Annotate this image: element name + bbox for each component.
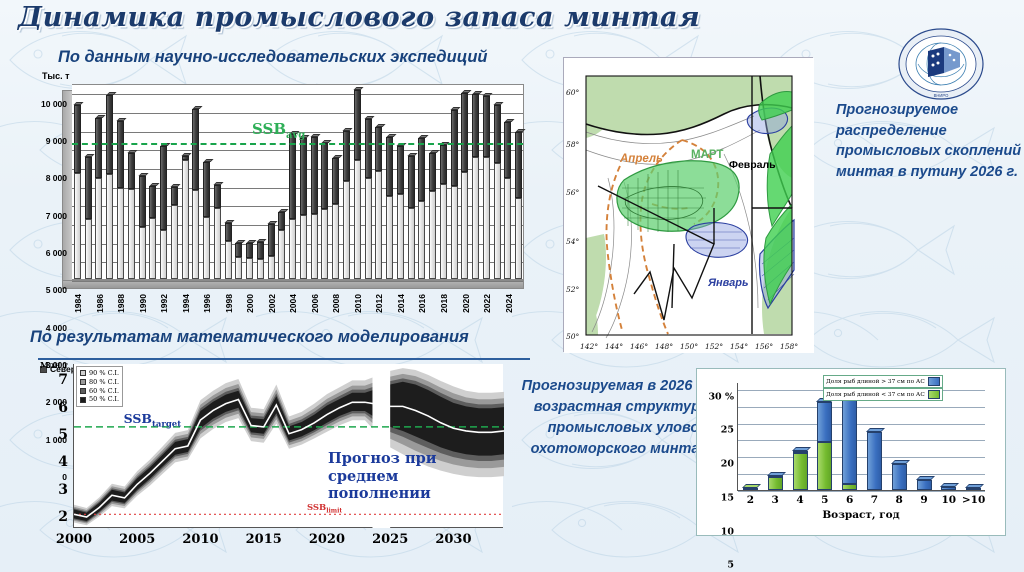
survey-bar-lower-segment bbox=[343, 181, 350, 279]
survey-bar-upper-segment bbox=[461, 93, 468, 171]
survey-x-tick: 2008 bbox=[331, 294, 341, 313]
slide-root: Динамика промыслового запаса минтая По д… bbox=[0, 0, 1024, 572]
survey-bar bbox=[375, 83, 382, 279]
survey-x-tick: 2012 bbox=[374, 294, 384, 313]
survey-bar bbox=[418, 83, 425, 279]
svg-text:148°: 148° bbox=[655, 342, 673, 351]
age-legend-item: Доля рыб длиной > 37 см по АС bbox=[823, 375, 943, 388]
survey-bar bbox=[278, 83, 285, 279]
survey-x-tick: 2000 bbox=[245, 294, 255, 313]
survey-bar-upper-segment bbox=[332, 158, 339, 205]
survey-bar-cap bbox=[365, 116, 375, 119]
model-y-axis-label: Млн т bbox=[40, 360, 68, 370]
survey-bar-lower-segment bbox=[386, 196, 393, 279]
age-bar-green-segment bbox=[743, 488, 758, 490]
survey-bar-lower-segment bbox=[311, 214, 318, 279]
survey-bar bbox=[494, 83, 501, 279]
model-x-tick: 2005 bbox=[119, 532, 155, 547]
survey-bar-upper-segment bbox=[472, 94, 479, 157]
survey-bar-upper-segment bbox=[321, 143, 328, 209]
survey-x-tick: 2014 bbox=[396, 294, 406, 313]
survey-y-tick: 4 000 bbox=[46, 323, 67, 333]
survey-bar-cap bbox=[515, 129, 525, 132]
vniro-logo: ВНИРО bbox=[898, 27, 984, 101]
survey-bar bbox=[74, 83, 81, 279]
survey-bar-upper-segment bbox=[225, 223, 232, 241]
map-label-february: Февраль bbox=[729, 159, 776, 171]
survey-bar-upper-segment bbox=[268, 224, 275, 256]
survey-bars bbox=[72, 85, 523, 279]
survey-bar-cap bbox=[214, 182, 224, 185]
survey-bar bbox=[515, 83, 522, 279]
survey-bar bbox=[235, 83, 242, 279]
model-legend-label: 50 % C.I. bbox=[89, 395, 119, 404]
age-x-tick: 4 bbox=[796, 494, 803, 506]
page-title: Динамика промыслового запаса минтая bbox=[18, 2, 700, 33]
age-bar-green-segment bbox=[768, 477, 783, 491]
survey-bar bbox=[504, 83, 511, 279]
svg-text:60°: 60° bbox=[566, 88, 580, 97]
survey-bar-cap bbox=[117, 118, 127, 121]
survey-bar-upper-segment bbox=[257, 242, 264, 260]
survey-bar-upper-segment bbox=[246, 243, 253, 259]
model-ssb-target-label: SSBtarget bbox=[124, 411, 182, 430]
survey-bar-cap bbox=[386, 134, 396, 137]
survey-x-tick: 1986 bbox=[95, 294, 105, 313]
survey-bar-upper-segment bbox=[235, 243, 242, 257]
age-bar-top bbox=[916, 476, 935, 480]
survey-bar-lower-segment bbox=[483, 157, 490, 279]
age-bar-top bbox=[866, 428, 885, 432]
survey-bar-lower-segment bbox=[74, 173, 81, 279]
survey-bar-lower-segment bbox=[246, 258, 253, 279]
survey-bar-lower-segment bbox=[182, 160, 189, 279]
model-y-tick: 6 bbox=[58, 400, 68, 416]
survey-bar-lower-segment bbox=[461, 172, 468, 279]
age-bar-top bbox=[940, 483, 959, 487]
survey-y-axis-label: Тыс. т bbox=[42, 71, 69, 81]
survey-bar bbox=[95, 83, 102, 279]
model-forecast-gap bbox=[372, 364, 390, 528]
svg-text:142°: 142° bbox=[580, 342, 598, 351]
survey-y-tick: 9 000 bbox=[46, 136, 67, 146]
age-y-tick: 25 bbox=[721, 425, 734, 436]
age-y-tick: 15 bbox=[721, 492, 734, 503]
survey-bar-lower-segment bbox=[192, 190, 199, 279]
survey-bar-cap bbox=[128, 150, 138, 153]
age-structure-chart: 051015202530 % 2345678910>10 Доля рыб дл… bbox=[696, 368, 1006, 536]
svg-text:54°: 54° bbox=[566, 237, 580, 246]
survey-bar bbox=[397, 83, 404, 279]
survey-bar bbox=[106, 83, 113, 279]
survey-bar-cap bbox=[85, 154, 95, 157]
survey-bar bbox=[149, 83, 156, 279]
survey-bar-lower-segment bbox=[494, 163, 501, 279]
age-y-tick: 5 bbox=[727, 560, 734, 571]
survey-bar bbox=[257, 83, 264, 279]
survey-bar-lower-segment bbox=[160, 230, 167, 279]
survey-bar-upper-segment bbox=[289, 134, 296, 219]
survey-bar bbox=[461, 83, 468, 279]
survey-bar bbox=[192, 83, 199, 279]
age-x-tick: 5 bbox=[821, 494, 828, 506]
survey-bar-upper-segment bbox=[171, 187, 178, 206]
age-x-tick: 3 bbox=[772, 494, 779, 506]
survey-x-tick: 2004 bbox=[288, 294, 298, 313]
model-y-tick: 4 bbox=[58, 454, 68, 470]
survey-bar bbox=[171, 83, 178, 279]
survey-bar-upper-segment bbox=[85, 157, 92, 220]
age-bar bbox=[966, 382, 981, 490]
model-annotation: Прогноз при среднем пополнении bbox=[328, 450, 448, 503]
survey-bar bbox=[365, 83, 372, 279]
age-x-axis-label: Возраст, год bbox=[737, 509, 985, 521]
survey-bar-cap bbox=[461, 90, 471, 93]
survey-bar-cap bbox=[139, 173, 149, 176]
svg-text:58°: 58° bbox=[566, 140, 580, 149]
model-y-tick: 5 bbox=[58, 427, 68, 443]
model-target-subscript: target bbox=[152, 419, 181, 429]
survey-bar-upper-segment bbox=[74, 105, 81, 172]
survey-bar-upper-segment bbox=[300, 138, 307, 215]
survey-bar-upper-segment bbox=[95, 118, 102, 179]
age-bar-blue-segment bbox=[842, 389, 857, 484]
survey-bar-cap bbox=[504, 119, 514, 122]
model-legend-item: 90 % C.I. bbox=[80, 369, 119, 378]
age-bar-blue-segment bbox=[966, 488, 981, 490]
age-bar-blue-segment bbox=[941, 487, 956, 490]
map-label-april: Апрель bbox=[619, 153, 663, 165]
survey-bar-lower-segment bbox=[515, 198, 522, 279]
survey-bar-cap bbox=[451, 107, 461, 110]
survey-bar bbox=[160, 83, 167, 279]
survey-stock-chart: Тыс. т 01 0002 0003 0004 0005 0006 0007 … bbox=[20, 72, 532, 322]
survey-bar-cap bbox=[203, 159, 213, 162]
survey-bar-lower-segment bbox=[149, 218, 156, 279]
survey-bar-lower-segment bbox=[429, 191, 436, 279]
survey-bar bbox=[289, 83, 296, 279]
model-legend-label: 60 % C.I. bbox=[89, 387, 119, 396]
survey-bar-upper-segment bbox=[117, 121, 124, 187]
caption-modeling: По результатам математического моделиров… bbox=[30, 328, 469, 347]
survey-bar-lower-segment bbox=[278, 230, 285, 279]
survey-x-tick: 2018 bbox=[439, 294, 449, 313]
survey-bar bbox=[408, 83, 415, 279]
model-bands-svg bbox=[74, 364, 504, 528]
age-bar-top bbox=[891, 460, 910, 464]
survey-bar-cap bbox=[95, 115, 105, 118]
survey-bar-lower-segment bbox=[117, 188, 124, 279]
survey-bar bbox=[343, 83, 350, 279]
survey-bar-lower-segment bbox=[85, 219, 92, 279]
svg-text:150°: 150° bbox=[680, 342, 698, 351]
distribution-map: Апрель МАРТ Февраль Январь 60°58°56° 54°… bbox=[563, 57, 813, 352]
survey-bar-upper-segment bbox=[278, 212, 285, 231]
survey-bar-upper-segment bbox=[311, 137, 318, 214]
model-limit-subscript: limit bbox=[326, 508, 342, 515]
survey-bar-lower-segment bbox=[300, 215, 307, 279]
survey-x-tick: 2022 bbox=[482, 294, 492, 313]
survey-bar-cap bbox=[494, 102, 504, 105]
age-structure-description: Прогнозируемая в 2026 г. возрастная стру… bbox=[516, 376, 708, 460]
svg-text:56°: 56° bbox=[566, 188, 580, 197]
age-bar bbox=[743, 382, 758, 490]
survey-bar-lower-segment bbox=[321, 209, 328, 279]
survey-x-tick: 1988 bbox=[116, 294, 126, 313]
survey-bar-upper-segment bbox=[365, 119, 372, 178]
survey-bar-upper-segment bbox=[418, 138, 425, 201]
survey-bar-cap bbox=[106, 92, 116, 95]
age-legend-swatch bbox=[928, 390, 940, 399]
survey-bar-cap bbox=[354, 87, 364, 90]
age-y-tick: 20 bbox=[721, 459, 734, 470]
svg-text:156°: 156° bbox=[755, 342, 773, 351]
age-bar-top bbox=[792, 447, 811, 451]
model-legend: 90 % C.I.80 % C.I.60 % C.I.50 % C.I. bbox=[76, 366, 123, 407]
model-legend-label: 90 % C.I. bbox=[89, 369, 119, 378]
survey-bar-cap bbox=[418, 135, 428, 138]
survey-bar bbox=[85, 83, 92, 279]
survey-bar-cap bbox=[332, 155, 342, 158]
age-bar-blue-segment bbox=[817, 402, 832, 442]
survey-bar-upper-segment bbox=[375, 127, 382, 171]
model-legend-swatch bbox=[80, 370, 86, 376]
survey-bar-upper-segment bbox=[192, 109, 199, 190]
survey-y-tick: 8 000 bbox=[46, 173, 67, 183]
survey-bar bbox=[386, 83, 393, 279]
model-legend-swatch bbox=[80, 388, 86, 394]
survey-bar-cap bbox=[278, 209, 288, 212]
survey-bar-upper-segment bbox=[182, 156, 189, 160]
age-x-tick: 10 bbox=[941, 494, 956, 506]
survey-bar-upper-segment bbox=[386, 137, 393, 196]
model-x-tick: 2010 bbox=[182, 532, 218, 547]
age-x-tick: >10 bbox=[962, 494, 985, 506]
survey-bar-lower-segment bbox=[257, 259, 264, 279]
svg-text:154°: 154° bbox=[730, 342, 748, 351]
survey-bar-lower-segment bbox=[106, 174, 113, 279]
survey-bar-cap bbox=[182, 153, 192, 156]
model-legend-swatch bbox=[80, 397, 86, 403]
survey-bar-lower-segment bbox=[354, 160, 361, 279]
age-gridline: 0 bbox=[738, 491, 985, 492]
survey-bar-lower-segment bbox=[235, 257, 242, 279]
survey-bar-upper-segment bbox=[343, 131, 350, 181]
survey-bar-lower-segment bbox=[214, 208, 221, 279]
survey-bar-lower-segment bbox=[365, 178, 372, 279]
survey-bar-cap bbox=[408, 153, 418, 156]
survey-bar bbox=[268, 83, 275, 279]
survey-x-tick: 1992 bbox=[159, 294, 169, 313]
model-x-tick: 2000 bbox=[56, 532, 92, 547]
survey-x-tick: 2002 bbox=[267, 294, 277, 313]
survey-bar bbox=[117, 83, 124, 279]
model-legend-swatch bbox=[80, 379, 86, 385]
map-svg: Апрель МАРТ Февраль Январь 60°58°56° 54°… bbox=[564, 58, 814, 353]
survey-bar-cap bbox=[246, 240, 256, 243]
survey-bar-lower-segment bbox=[225, 241, 232, 279]
survey-gridline: 0 bbox=[72, 281, 523, 282]
survey-x-tick: 2016 bbox=[417, 294, 427, 313]
survey-bar-upper-segment bbox=[354, 90, 361, 160]
survey-bar bbox=[472, 83, 479, 279]
survey-bar-lower-segment bbox=[375, 171, 382, 279]
survey-bar-cap bbox=[225, 220, 235, 223]
svg-text:50°: 50° bbox=[566, 332, 580, 341]
survey-bar bbox=[451, 83, 458, 279]
logo-text: ВНИРО bbox=[934, 93, 950, 98]
caption-expeditions: По данным научно-исследовательских экспе… bbox=[58, 48, 488, 67]
age-y-tick: 30 % bbox=[708, 391, 734, 402]
model-ssb-limit-label: SSBlimit bbox=[307, 503, 342, 515]
survey-x-tick: 1990 bbox=[138, 294, 148, 313]
model-legend-item: 80 % C.I. bbox=[80, 378, 119, 387]
age-x-tick: 6 bbox=[846, 494, 853, 506]
svg-text:152°: 152° bbox=[705, 342, 723, 351]
survey-x-tick: 1998 bbox=[224, 294, 234, 313]
model-x-tick: 2025 bbox=[372, 532, 408, 547]
survey-ssb-avg-label: SSBavg bbox=[252, 120, 305, 141]
survey-x-tick: 2020 bbox=[461, 294, 471, 313]
age-bar-blue-segment bbox=[917, 480, 932, 490]
survey-bar bbox=[300, 83, 307, 279]
survey-bar bbox=[214, 83, 221, 279]
age-x-tick: 7 bbox=[871, 494, 878, 506]
survey-bar-lower-segment bbox=[418, 201, 425, 279]
survey-bar-lower-segment bbox=[139, 227, 146, 279]
survey-x-tick: 1994 bbox=[181, 294, 191, 313]
survey-bar-cap bbox=[429, 150, 439, 153]
age-bar-green-segment bbox=[793, 453, 808, 490]
survey-bar-cap bbox=[149, 183, 159, 186]
survey-bar-upper-segment bbox=[128, 153, 135, 189]
model-x-tick: 2020 bbox=[309, 532, 345, 547]
survey-bar-upper-segment bbox=[451, 110, 458, 186]
survey-bar-lower-segment bbox=[472, 157, 479, 279]
survey-bar-lower-segment bbox=[203, 217, 210, 279]
model-plot-area: 2345672000200520102015202020252030 bbox=[73, 364, 503, 528]
age-bar-blue-segment bbox=[867, 432, 882, 490]
survey-bar bbox=[225, 83, 232, 279]
survey-bar-upper-segment bbox=[408, 156, 415, 208]
age-x-tick: 8 bbox=[896, 494, 903, 506]
model-y-tick: 7 bbox=[58, 372, 68, 388]
model-projection-chart: Млн т 2345672000200520102015202020252030… bbox=[18, 352, 518, 564]
survey-bar-lower-segment bbox=[289, 219, 296, 279]
survey-bar-upper-segment bbox=[440, 145, 447, 184]
model-legend-item: 50 % C.I. bbox=[80, 395, 119, 404]
forecast-description: Прогнозируемое распределение промысловых… bbox=[836, 100, 1022, 182]
survey-bar-lower-segment bbox=[504, 178, 511, 279]
model-y-tick: 2 bbox=[58, 509, 68, 525]
map-label-march: МАРТ bbox=[691, 149, 723, 161]
survey-bar-upper-segment bbox=[429, 153, 436, 191]
survey-bar bbox=[332, 83, 339, 279]
svg-text:52°: 52° bbox=[566, 285, 580, 294]
survey-bar-cap bbox=[483, 93, 493, 96]
survey-bar-lower-segment bbox=[332, 204, 339, 279]
survey-bar-cap bbox=[235, 240, 245, 243]
age-x-tick: 9 bbox=[920, 494, 927, 506]
survey-x-tick: 2010 bbox=[353, 294, 363, 313]
survey-bar-lower-segment bbox=[128, 189, 135, 279]
age-legend-swatch bbox=[928, 377, 940, 386]
survey-bar bbox=[483, 83, 490, 279]
survey-x-tick: 2006 bbox=[310, 294, 320, 313]
survey-bar-upper-segment bbox=[203, 162, 210, 217]
age-bar-blue-segment bbox=[892, 464, 907, 490]
survey-bar-upper-segment bbox=[397, 146, 404, 194]
survey-bar bbox=[311, 83, 318, 279]
survey-bar bbox=[182, 83, 189, 279]
survey-bar-lower-segment bbox=[440, 184, 447, 279]
map-label-january: Январь bbox=[707, 277, 749, 289]
survey-bar-cap bbox=[472, 91, 482, 94]
survey-bar-lower-segment bbox=[397, 194, 404, 279]
age-legend-label: Доля рыб длиной > 37 см по АС bbox=[826, 379, 925, 385]
age-legend-label: Доля рыб длиной < 37 см по АС bbox=[826, 392, 925, 398]
age-bar-top bbox=[965, 484, 984, 488]
age-bar-top bbox=[767, 472, 786, 476]
age-bar-green-segment bbox=[817, 442, 832, 490]
age-bar-green-segment bbox=[842, 484, 857, 490]
age-bar bbox=[941, 382, 956, 490]
svg-text:146°: 146° bbox=[630, 342, 648, 351]
svg-text:158°: 158° bbox=[780, 342, 798, 351]
survey-bar bbox=[440, 83, 447, 279]
survey-bar-lower-segment bbox=[171, 205, 178, 279]
survey-ssb-subscript: avg bbox=[286, 130, 305, 141]
survey-plot-area: 01 0002 0003 0004 0005 0006 0007 0008 00… bbox=[72, 84, 524, 280]
survey-x-tick: 2024 bbox=[504, 294, 514, 313]
survey-bar-upper-segment bbox=[515, 132, 522, 198]
survey-x-tick: 1984 bbox=[73, 294, 83, 313]
survey-bar bbox=[429, 83, 436, 279]
age-y-tick: 10 bbox=[721, 526, 734, 537]
age-x-tick: 2 bbox=[747, 494, 754, 506]
survey-bar-upper-segment bbox=[214, 185, 221, 208]
survey-bar-upper-segment bbox=[483, 96, 490, 157]
age-bar-top bbox=[742, 484, 761, 488]
model-x-tick: 2030 bbox=[435, 532, 471, 547]
survey-bar-lower-segment bbox=[268, 256, 275, 279]
survey-bar-cap bbox=[257, 239, 267, 242]
survey-y-tick: 5 000 bbox=[46, 285, 67, 295]
model-legend-item: 60 % C.I. bbox=[80, 387, 119, 396]
survey-bar-upper-segment bbox=[494, 105, 501, 163]
survey-y-tick: 7 000 bbox=[46, 211, 67, 221]
survey-bar-upper-segment bbox=[149, 186, 156, 219]
survey-bar-lower-segment bbox=[451, 186, 458, 279]
survey-y-tick: 10 000 bbox=[41, 99, 67, 109]
survey-bar-cap bbox=[268, 221, 278, 224]
survey-bar bbox=[321, 83, 328, 279]
survey-bar-lower-segment bbox=[95, 178, 102, 279]
svg-text:144°: 144° bbox=[605, 342, 623, 351]
model-y-tick: 3 bbox=[58, 482, 68, 498]
survey-bar-cap bbox=[74, 102, 84, 105]
survey-bar-cap bbox=[375, 124, 385, 127]
survey-bar bbox=[139, 83, 146, 279]
survey-bar-cap bbox=[343, 128, 353, 131]
survey-x-tick: 1996 bbox=[202, 294, 212, 313]
survey-y-tick: 6 000 bbox=[46, 248, 67, 258]
survey-bar-upper-segment bbox=[139, 176, 146, 226]
survey-ssb-avg-line bbox=[72, 143, 523, 145]
survey-bar bbox=[128, 83, 135, 279]
survey-bar-lower-segment bbox=[408, 208, 415, 279]
age-bar bbox=[768, 382, 783, 490]
